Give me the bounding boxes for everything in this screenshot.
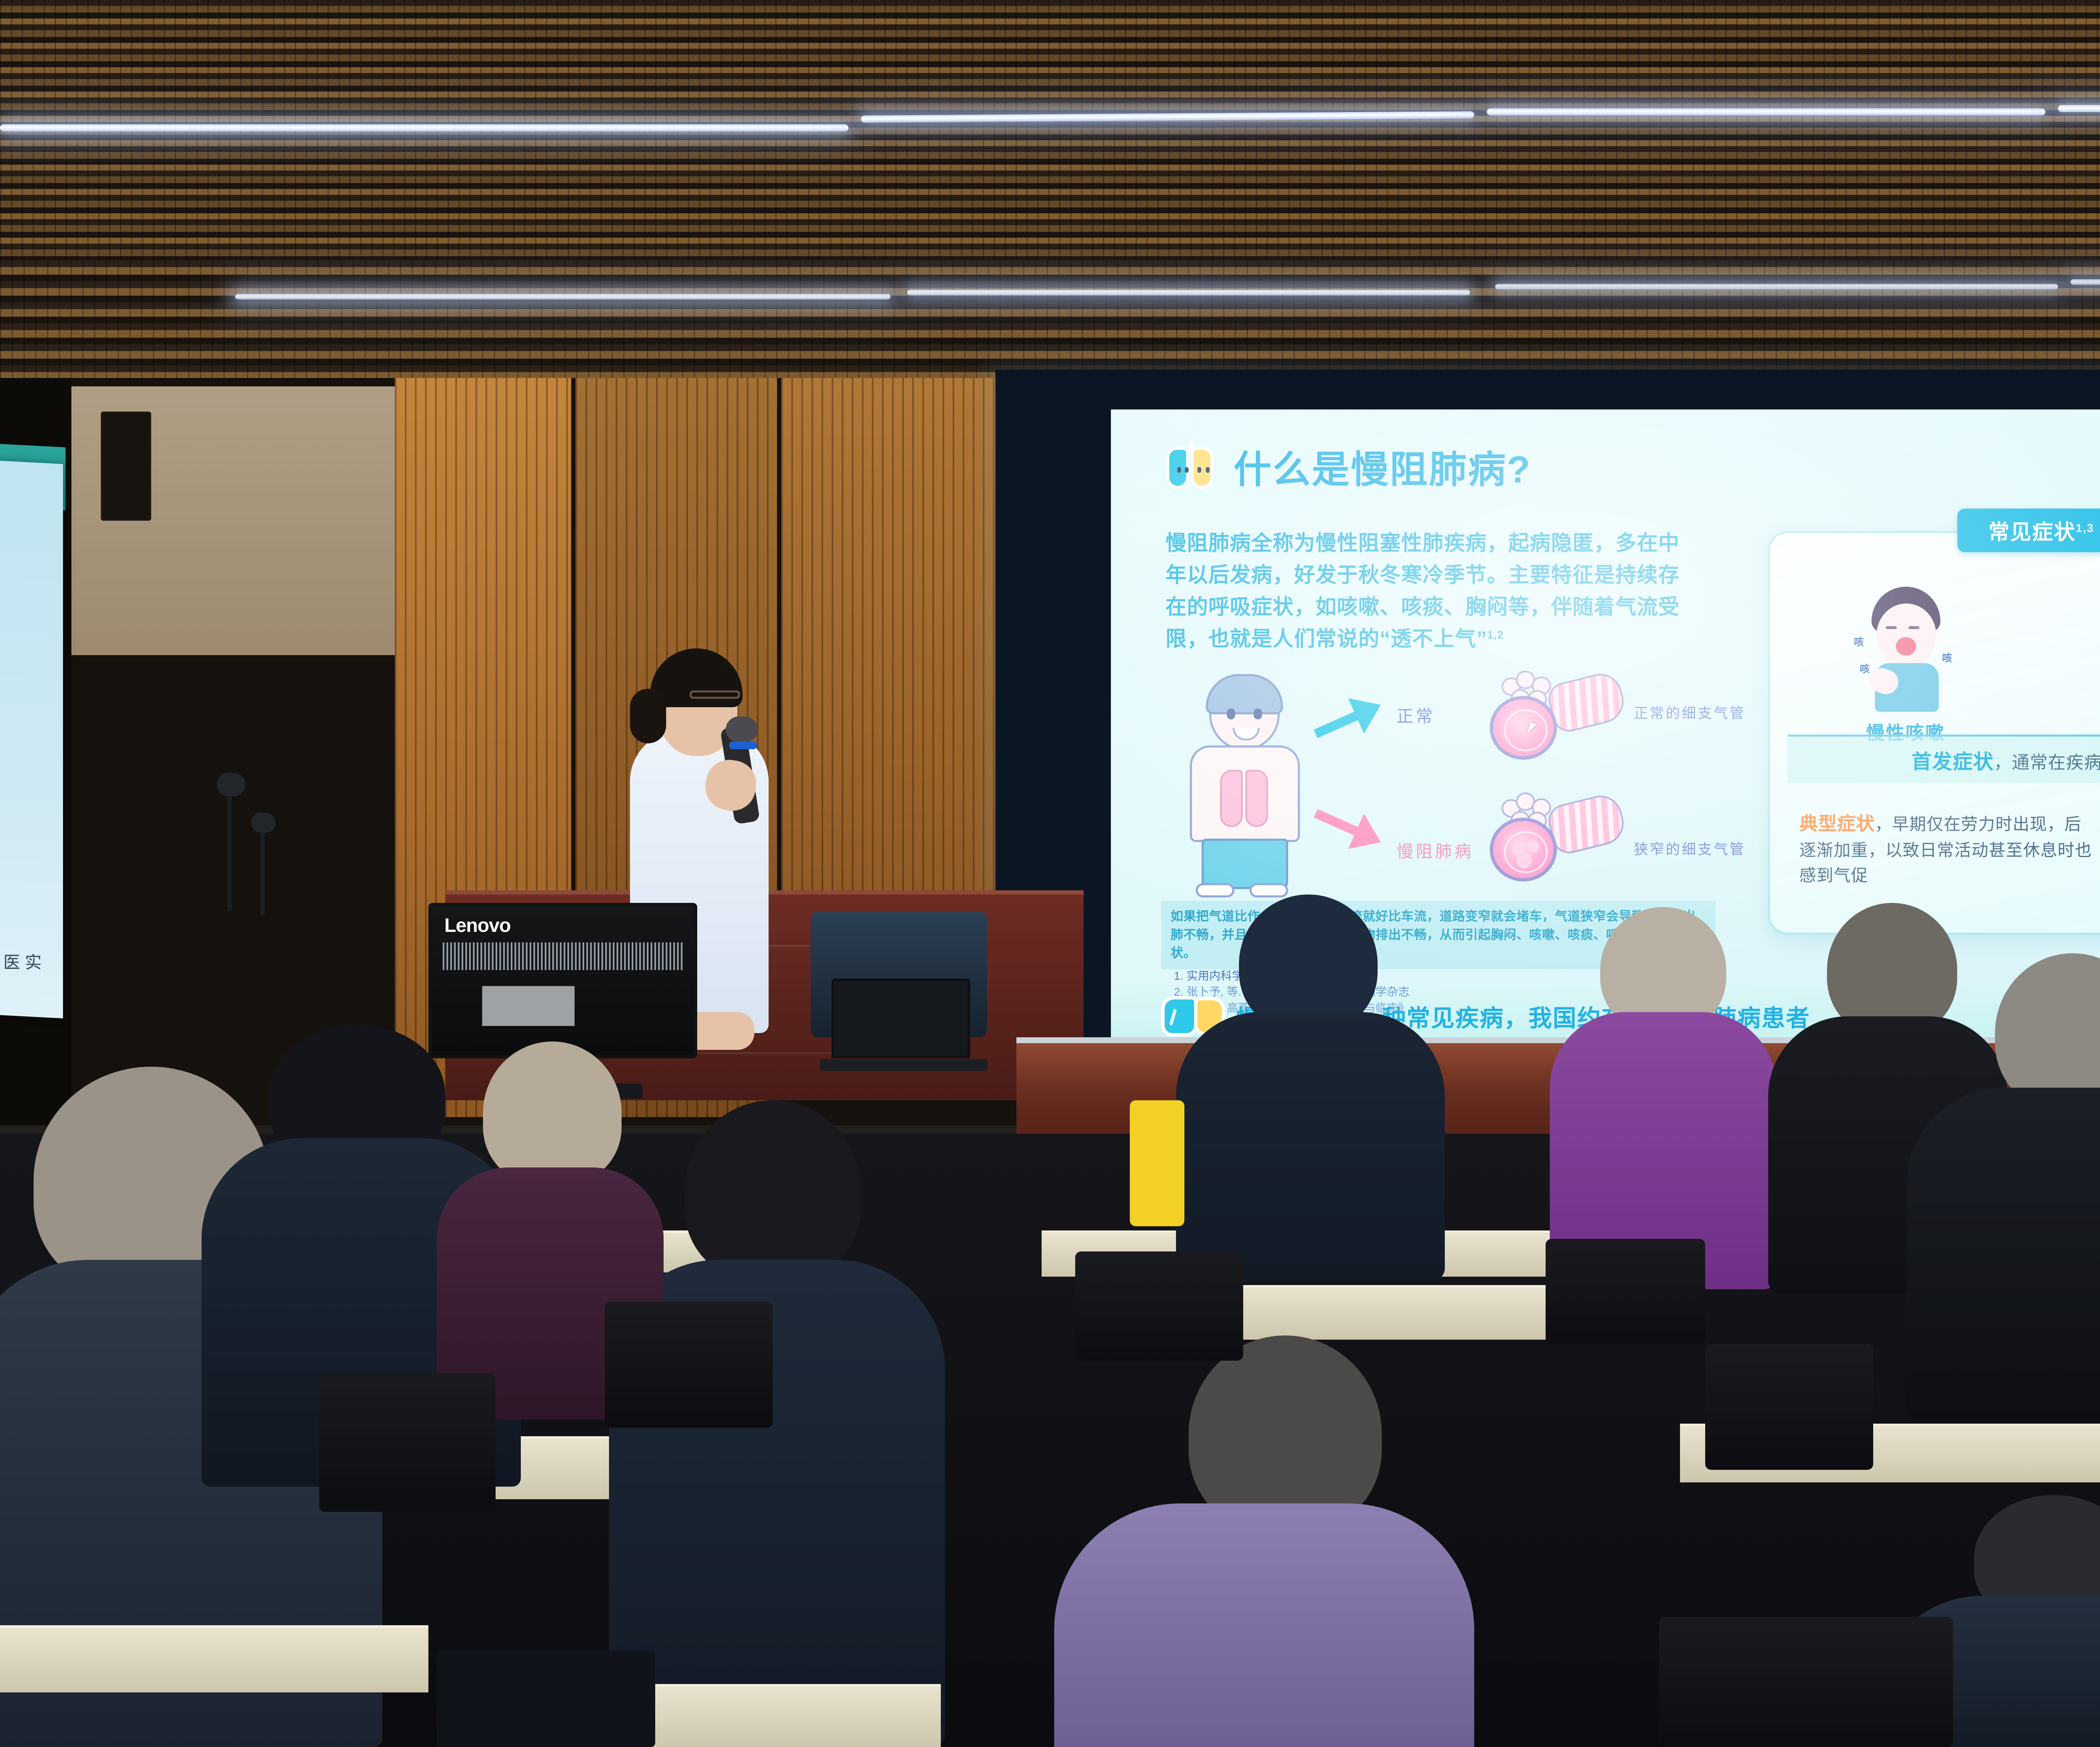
monitor-spec-label	[482, 986, 575, 1026]
microphone-stand-head	[251, 813, 276, 833]
audience-chair-back	[605, 1302, 773, 1428]
page-title: 什么是慢阻肺病?	[1234, 439, 1531, 493]
typical-symptom-strong: 典型症状	[1799, 813, 1875, 834]
cough-puff-label: 咳	[1854, 634, 1864, 648]
audience-bag	[1130, 1100, 1184, 1226]
symptom-list: 咳 咳 咳 慢性咳嗽	[1770, 579, 2100, 745]
audience-chair-back	[1546, 1239, 1705, 1344]
ceiling-light-tube	[235, 294, 890, 299]
ceiling-light-tube	[2058, 105, 2100, 112]
microphone-band	[729, 742, 757, 749]
coughing-boy-illustration: 咳 咳 咳	[1817, 579, 1994, 718]
list-item: 咳 咳 咳 慢性咳嗽	[1817, 579, 1994, 745]
first-symptom-banner: 首发症状，通常在疾病早期出现	[1788, 734, 2100, 783]
list-item: 咳痰	[2089, 579, 2100, 745]
symptom-badge-superscript: 1,3	[2076, 522, 2094, 534]
microphone-stand	[260, 823, 265, 915]
microphone-stand-head	[217, 773, 245, 796]
audience-chair-back	[1659, 1617, 1953, 1747]
narrow-bronchiole-illustration	[1485, 796, 1623, 886]
cough-puff-label: 咳	[1860, 661, 1870, 675]
slide-body-superscript: 1,2	[1487, 628, 1504, 641]
label-normal: 正常	[1396, 703, 1435, 727]
monitor-vent	[443, 942, 683, 970]
arrow-normal-icon	[1308, 687, 1389, 751]
first-symptom-rest: ，通常在疾病早期出现	[1994, 753, 2100, 772]
ceiling-wood-slats	[0, 0, 2100, 269]
label-normal-bronchiole: 正常的细支气管	[1634, 702, 1746, 722]
slide-title-row: 什么是慢阻肺病?	[1165, 439, 1531, 493]
ceiling-second-band	[0, 260, 2100, 386]
microphone-stand	[227, 785, 232, 911]
audience-member	[1029, 1335, 1491, 1747]
lecture-hall-scene: ⤮⤶ 退出全屏 什么是慢阻肺病? 慢阻肺病全称为慢性阻塞性肺疾病，起病隐匿，多在…	[0, 0, 2100, 1747]
patient-figure-illustration	[1182, 674, 1308, 897]
symptom-panel: 常见症状1,3 咳 咳 咳 慢性咳嗽	[1768, 531, 2100, 934]
wall-speaker	[101, 412, 151, 521]
audience-chair-back	[319, 1373, 496, 1512]
audience-chair-back	[1075, 1251, 1243, 1361]
ceiling-light-tube	[0, 124, 848, 131]
presenter-ponytail	[630, 689, 666, 743]
rollup-banner	[0, 460, 63, 1018]
microphone-head	[726, 716, 758, 742]
status-badge: 常见症状1,3	[1957, 509, 2100, 552]
cough-puff-label: 咳	[1942, 650, 1952, 664]
lungs-icon	[1165, 441, 1219, 491]
typical-symptom-block: 典型症状，早期仅在劳力时出现，后逐渐加重，以致日常活动甚至休息时也感到气促	[1799, 810, 2093, 888]
coughing-elder-illustration	[2089, 579, 2100, 718]
first-symptom-strong: 首发症状	[1911, 751, 1994, 773]
audience-member	[1898, 953, 2100, 1415]
presenter-glasses	[690, 690, 740, 699]
ceiling-light-tube	[907, 290, 1470, 295]
ceiling-light-tube	[1495, 284, 2058, 289]
ceiling-light-tube	[1487, 108, 2045, 115]
audience-member	[1159, 894, 1453, 1272]
slide-body-text: 慢阻肺病全称为慢性阻塞性肺疾病，起病隐匿，多在中年以后发病，好发于秋冬寒冷季节。…	[1165, 531, 1680, 651]
audience-chair-back	[1705, 1344, 1873, 1470]
audience-desk	[0, 1625, 428, 1692]
rollup-banner-text: 医 实	[3, 953, 54, 972]
audience-member	[1533, 907, 1785, 1285]
normal-bronchiole-illustration	[1485, 674, 1623, 764]
copd-comparison-figure: 正常 慢阻肺病 正常的细支气管 狭窄的细支气管	[1174, 670, 1753, 905]
monitor-brand-label: Lenovo	[444, 914, 511, 936]
slide-body-paragraph: 慢阻肺病全称为慢性阻塞性肺疾病，起病隐匿，多在中年以后发病，好发于秋冬寒冷季节。…	[1165, 527, 1682, 655]
laptop-on-desk	[437, 1650, 655, 1747]
laptop	[832, 978, 970, 1058]
arrow-copd-icon	[1308, 795, 1389, 860]
symptom-badge-label: 常见症状	[1988, 520, 2076, 544]
label-narrow-bronchiole: 狭窄的细支气管	[1634, 838, 1746, 858]
ceiling-light-tube	[2071, 279, 2100, 285]
label-copd: 慢阻肺病	[1396, 838, 1474, 862]
